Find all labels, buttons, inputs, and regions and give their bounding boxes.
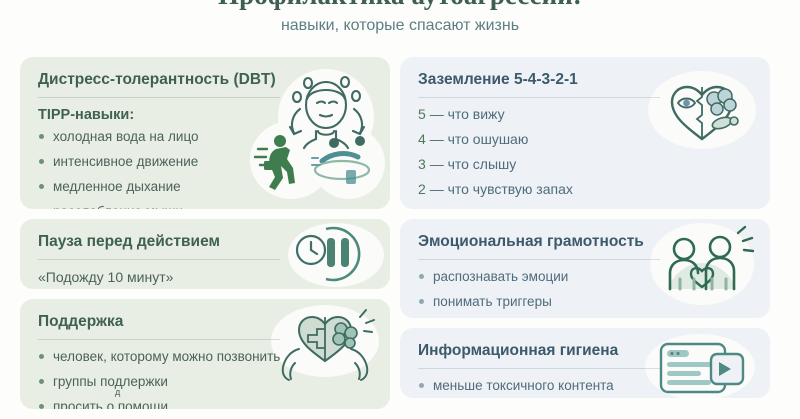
list-item: расслабление мышц: [38, 204, 374, 209]
step-number: 2: [418, 181, 426, 197]
card-distress-tolerance: Дистресс-толерантность (DBT) TIPP-навыки…: [20, 57, 390, 209]
card-title: Заземление 5-4-3-2-1: [418, 70, 754, 89]
list-item: 3 — что слышу: [418, 157, 754, 172]
list-item: понимать триггеры: [418, 294, 754, 309]
list-item: 2 — что чувствую запах: [418, 182, 754, 197]
infographic-page: Профилактика аутоагрессии: навыки, котор…: [0, 0, 800, 400]
card-grounding: Заземление 5-4-3-2-1 5 — что вижу 4 — чт…: [400, 57, 770, 209]
step-text: — что ошушаю: [430, 131, 529, 147]
bullet-list: холодная вода на лицо интенсивное движен…: [38, 129, 374, 209]
numbered-list: 5 — что вижу 4 — что ошушаю 3 — что слыш…: [418, 107, 754, 209]
header: Профилактика аутоагрессии: навыки, котор…: [0, 0, 800, 36]
divider: [38, 339, 280, 340]
card-quote: «Подожду 10 минут»: [38, 269, 374, 285]
list-item: 4 — что ошушаю: [418, 132, 754, 147]
typo-correction-mark: д: [115, 385, 120, 400]
step-text: — что слышу: [430, 156, 517, 172]
right-column: Заземление 5-4-3-2-1 5 — что вижу 4 — чт…: [400, 57, 770, 408]
step-number: 3: [418, 156, 426, 172]
list-item: просить о помощи: [38, 399, 374, 409]
card-support: Поддержка человек, которому можно позвон…: [20, 299, 390, 409]
page-subtitle: навыки, которые спасают жизнь: [0, 16, 800, 36]
page-title: Профилактика аутоагрессии:: [0, 0, 800, 10]
card-lead: TIPP-навыки:: [38, 107, 374, 123]
list-item: 1 — что чувствую вкус: [418, 207, 754, 209]
bullet-list: человек, которому можно позвонить группы…: [38, 349, 374, 409]
step-number: 1: [418, 206, 426, 209]
step-number: 5: [418, 106, 426, 122]
list-item: группы подлержки д: [38, 374, 374, 389]
list-item: интенсивное движение: [38, 154, 374, 169]
divider: [38, 97, 280, 98]
card-title: Поддержка: [38, 312, 374, 331]
list-item: холодная вода на лицо: [38, 129, 374, 144]
step-text: — что вижу: [430, 106, 505, 122]
step-text: — что чувствую запах: [430, 181, 573, 197]
divider: [38, 259, 280, 260]
card-title: Дистресс-толерантность (DBT): [38, 70, 374, 89]
divider: [418, 259, 660, 260]
divider: [418, 368, 660, 369]
list-item: распознавать эмоции: [418, 269, 754, 284]
bullet-list: распознавать эмоции понимать триггеры ра…: [418, 269, 754, 318]
list-item: 5 — что вижу: [418, 107, 754, 122]
list-item: меньше токсичного контента: [418, 378, 754, 393]
step-text: — что чувствую вкус: [430, 206, 564, 209]
card-title: Эмоциональная грамотность: [418, 232, 754, 251]
card-title: Пауза перед действием: [38, 232, 374, 251]
left-column: Дистресс-толерантность (DBT) TIPP-навыки…: [20, 57, 390, 419]
card-pause-before-action: Пауза перед действием «Подожду 10 минут»: [20, 219, 390, 289]
card-title: Информационная гигиена: [418, 341, 754, 360]
step-number: 4: [418, 131, 426, 147]
list-item: человек, которому можно позвонить: [38, 349, 374, 364]
bullet-list: меньше токсичного контента: [418, 378, 754, 393]
card-information-hygiene: Информационная гигиена меньше токсичного…: [400, 328, 770, 398]
divider: [418, 97, 660, 98]
list-item: медленное дыхание: [38, 179, 374, 194]
card-emotional-literacy: Эмоциональная грамотность распознавать э…: [400, 219, 770, 318]
